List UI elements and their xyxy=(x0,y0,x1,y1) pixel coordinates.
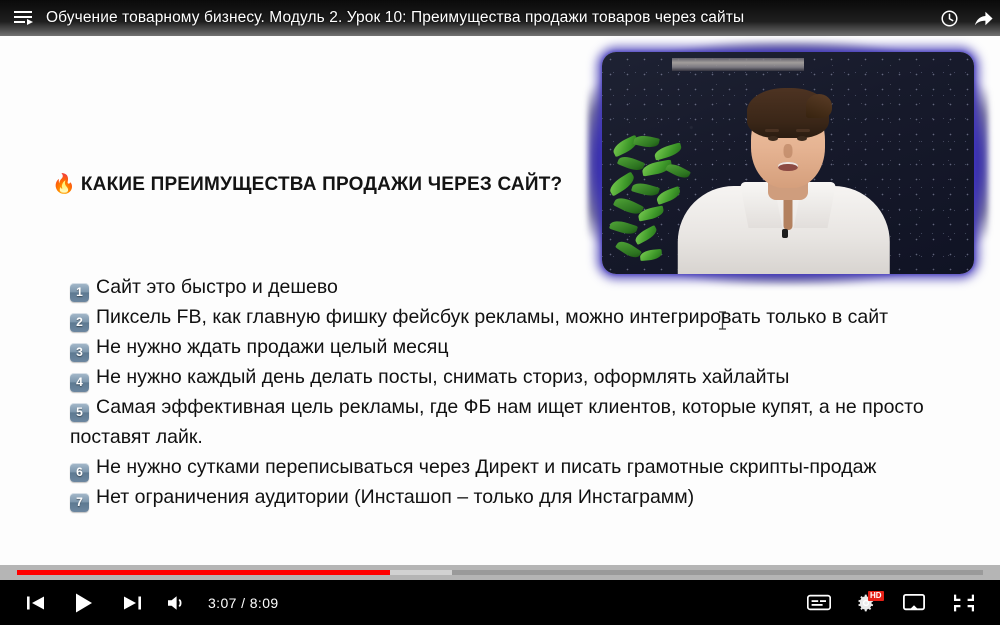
youtube-video-player: Обучение товарному бизнесу. Модуль 2. Ур… xyxy=(0,0,1000,625)
closed-captions-icon xyxy=(807,594,831,611)
player-title-bar: Обучение товарному бизнесу. Модуль 2. Ур… xyxy=(0,0,1000,36)
nose xyxy=(784,144,793,158)
playlist-queue-icon[interactable] xyxy=(14,8,36,28)
list-item: 4Не нужно каждый день делать посты, сним… xyxy=(70,362,960,392)
exit-fullscreen-button[interactable] xyxy=(938,580,990,625)
list-item-text: Пиксель FB, как главную фишку фейсбук ре… xyxy=(96,306,888,328)
list-number-badge: 5 xyxy=(70,403,89,422)
video-title: Обучение товарному бизнесу. Модуль 2. Ур… xyxy=(46,9,932,27)
clock-icon xyxy=(940,9,959,28)
list-number-badge: 4 xyxy=(70,373,89,392)
list-item: 5Самая эффективная цель рекламы, где ФБ … xyxy=(70,392,960,452)
watch-later-button[interactable] xyxy=(932,0,966,36)
quality-badge: HD xyxy=(868,591,884,601)
text-cursor xyxy=(718,311,727,335)
list-number-badge: 7 xyxy=(70,493,89,512)
list-number-badge: 6 xyxy=(70,463,89,482)
list-item: 2Пиксель FB, как главную фишку фейсбук р… xyxy=(70,302,960,332)
list-item: 7Нет ограничения аудитории (Инсташоп – т… xyxy=(70,482,960,512)
play-button[interactable] xyxy=(58,580,110,625)
mouth xyxy=(778,162,798,171)
previous-track-icon xyxy=(27,595,45,611)
share-arrow-icon xyxy=(973,9,994,28)
list-item-text: Нет ограничения аудитории (Инсташоп – то… xyxy=(96,486,694,508)
list-item-text: Не нужно каждый день делать посты, снима… xyxy=(96,366,789,388)
list-item-text: Не нужно ждать продажи целый месяц xyxy=(96,336,449,358)
player-control-bar: 3:07 / 8:09 HD xyxy=(0,580,1000,625)
eye-right xyxy=(797,136,807,141)
eye-left xyxy=(768,136,778,141)
list-number-badge: 3 xyxy=(70,343,89,362)
list-item: 3Не нужно ждать продажи целый месяц xyxy=(70,332,960,362)
previous-video-button[interactable] xyxy=(14,580,58,625)
list-item-text: Не нужно сутками переписываться через Ди… xyxy=(96,456,876,478)
progress-bar-area[interactable] xyxy=(0,565,1000,580)
presenter-hair xyxy=(747,88,829,138)
list-item: 6Не нужно сутками переписываться через Д… xyxy=(70,452,960,482)
time-display: 3:07 / 8:09 xyxy=(208,595,279,611)
list-item-text: Самая эффективная цель рекламы, где ФБ н… xyxy=(70,396,924,448)
slide-heading-text: КАКИЕ ПРЕИМУЩЕСТВА ПРОДАЖИ ЧЕРЕЗ САЙТ? xyxy=(81,174,562,195)
shirt-opening xyxy=(784,196,793,230)
miniplayer-icon xyxy=(903,594,925,612)
subtitles-button[interactable] xyxy=(796,580,842,625)
lapel-microphone xyxy=(782,229,788,238)
next-video-button[interactable] xyxy=(110,580,154,625)
presenter-person xyxy=(602,52,974,274)
settings-button[interactable]: HD xyxy=(842,580,890,625)
text-beam-cursor-icon xyxy=(718,311,727,330)
benefits-list: 1Сайт это быстро и дешево 2Пиксель FB, к… xyxy=(70,272,960,512)
eyebrow-right xyxy=(796,129,810,132)
progress-played xyxy=(17,570,390,575)
volume-button[interactable] xyxy=(154,580,202,625)
share-button[interactable] xyxy=(966,0,1000,36)
fire-icon: 🔥 xyxy=(52,174,76,195)
presenter-webcam-overlay xyxy=(588,41,988,285)
exit-fullscreen-icon xyxy=(954,593,974,613)
progress-track[interactable] xyxy=(17,570,983,575)
list-number-badge: 2 xyxy=(70,313,89,332)
play-icon xyxy=(73,592,95,614)
slide-heading: 🔥КАКИЕ ПРЕИМУЩЕСТВА ПРОДАЖИ ЧЕРЕЗ САЙТ? xyxy=(52,172,562,196)
miniplayer-button[interactable] xyxy=(890,580,938,625)
list-item-text: Сайт это быстро и дешево xyxy=(96,276,338,298)
list-number-badge: 1 xyxy=(70,283,89,302)
webcam-video-frame xyxy=(602,52,974,274)
eyebrow-left xyxy=(765,129,779,132)
volume-icon xyxy=(167,594,189,612)
next-track-icon xyxy=(123,595,141,611)
